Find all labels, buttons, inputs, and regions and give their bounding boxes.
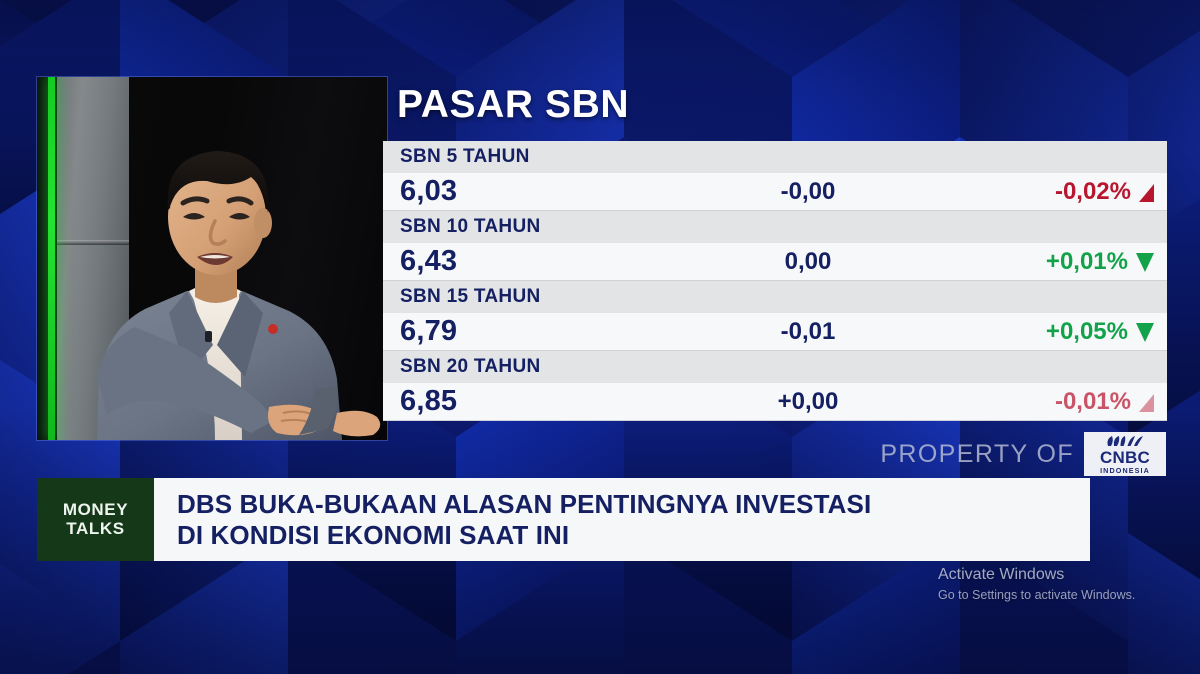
- property-of-bug: PROPERTY OF CNBC INDONESIA: [848, 432, 1166, 476]
- change-value: -0,01: [693, 318, 923, 346]
- change-value: -0,00: [693, 178, 923, 206]
- headline-line-2: DI KONDISI EKONOMI SAAT INI: [177, 520, 1076, 550]
- watermark-title: Activate Windows: [938, 563, 1178, 586]
- change-value: +0,00: [693, 388, 923, 416]
- percent-value: +0,05%: [1046, 318, 1128, 346]
- percent-change: +0,01%: [923, 248, 1167, 276]
- badge-line-2: TALKS: [66, 520, 124, 539]
- sbn-table: SBN 5 TAHUN 6,03 -0,00 -0,02% SBN 10 TAH…: [383, 141, 1167, 421]
- tenor-label: SBN 20 TAHUN: [383, 356, 541, 378]
- page-title: PASAR SBN: [383, 77, 1167, 141]
- triangle-down-icon: [1136, 253, 1154, 272]
- show-badge-money-talks: MONEY TALKS: [37, 478, 154, 561]
- yield-value: 6,03: [383, 175, 693, 208]
- percent-value: -0,02%: [1055, 178, 1131, 206]
- change-value: 0,00: [693, 248, 923, 276]
- table-row: 6,85 +0,00 -0,01%: [383, 383, 1167, 421]
- property-of-label: PROPERTY OF: [880, 440, 1074, 469]
- triangle-down-icon: [1136, 323, 1154, 342]
- cnbc-peacock-icon: [1105, 435, 1145, 448]
- table-row-label: SBN 10 TAHUN: [383, 211, 1167, 243]
- yield-value: 6,43: [383, 245, 693, 278]
- badge-line-1: MONEY: [63, 501, 128, 520]
- studio-video-feed: [37, 77, 387, 440]
- percent-change: +0,05%: [923, 318, 1167, 346]
- headline-banner: DBS BUKA-BUKAAN ALASAN PENTINGNYA INVEST…: [154, 478, 1090, 561]
- cnbc-wordmark: CNBC: [1100, 449, 1150, 466]
- watermark-subtitle: Go to Settings to activate Windows.: [938, 586, 1178, 604]
- guest-speaker: [37, 77, 387, 440]
- headline-line-1: DBS BUKA-BUKAAN ALASAN PENTINGNYA INVEST…: [177, 489, 1076, 519]
- cnbc-logo: CNBC INDONESIA: [1084, 432, 1166, 476]
- triangle-up-right-icon: [1139, 184, 1154, 202]
- market-data-panel: PASAR SBN SBN 5 TAHUN 6,03 -0,00 -0,02% …: [383, 77, 1167, 421]
- tenor-label: SBN 10 TAHUN: [383, 216, 541, 238]
- yield-value: 6,85: [383, 385, 693, 418]
- table-row-label: SBN 15 TAHUN: [383, 281, 1167, 313]
- table-row-label: SBN 20 TAHUN: [383, 351, 1167, 383]
- table-row: 6,79 -0,01 +0,05%: [383, 313, 1167, 351]
- tenor-label: SBN 15 TAHUN: [383, 286, 541, 308]
- table-row: 6,43 0,00 +0,01%: [383, 243, 1167, 281]
- table-row: 6,03 -0,00 -0,02%: [383, 173, 1167, 211]
- triangle-up-right-icon: [1139, 394, 1154, 412]
- yield-value: 6,79: [383, 315, 693, 348]
- percent-change: -0,02%: [923, 178, 1167, 206]
- tenor-label: SBN 5 TAHUN: [383, 146, 530, 168]
- percent-change: -0,01%: [923, 388, 1167, 416]
- cnbc-region-label: INDONESIA: [1100, 467, 1150, 474]
- percent-value: +0,01%: [1046, 248, 1128, 276]
- windows-activation-watermark: Activate Windows Go to Settings to activ…: [938, 563, 1178, 604]
- table-row-label: SBN 5 TAHUN: [383, 141, 1167, 173]
- lower-third-ticker: MONEY TALKS DBS BUKA-BUKAAN ALASAN PENTI…: [37, 478, 1090, 561]
- percent-value: -0,01%: [1055, 388, 1131, 416]
